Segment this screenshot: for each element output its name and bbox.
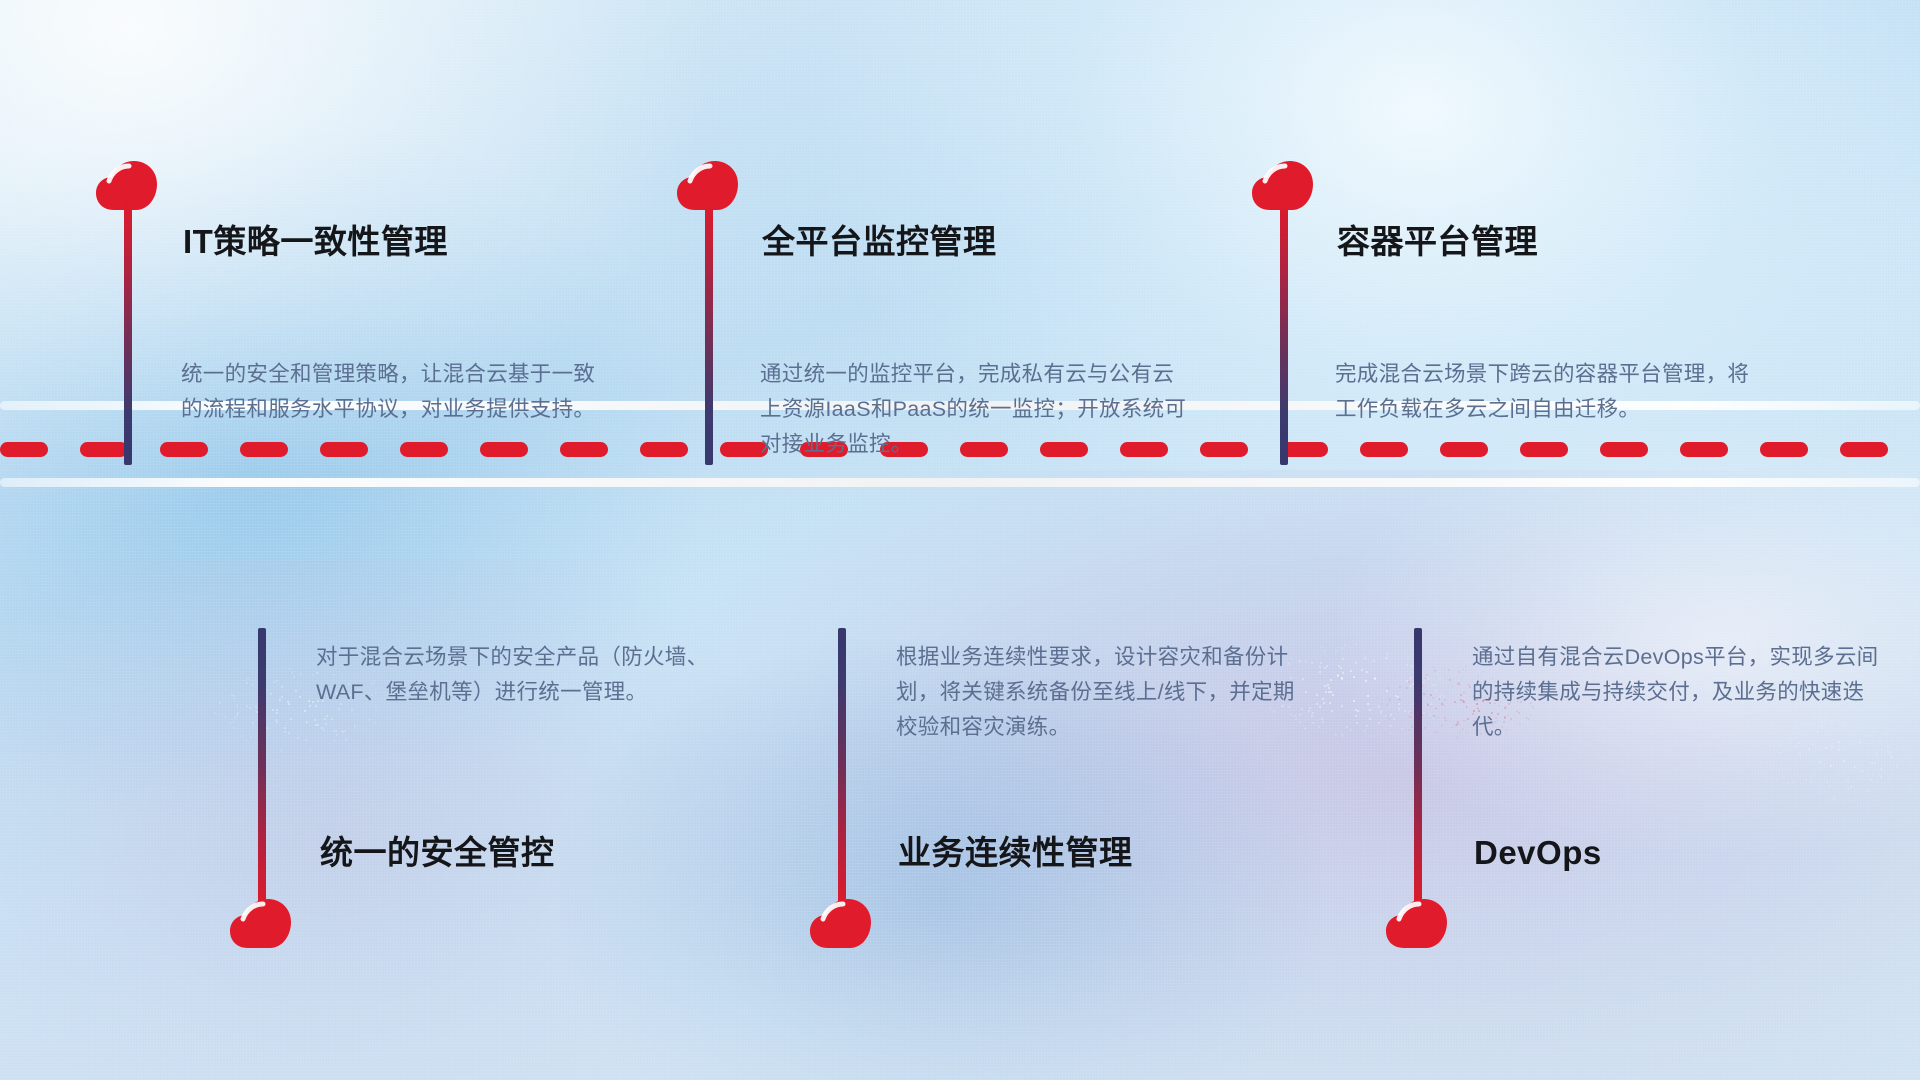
cloud-pin-icon[interactable] bbox=[1385, 898, 1451, 950]
item-title: 统一的安全管控 bbox=[320, 836, 555, 869]
timeline-stem bbox=[1280, 200, 1288, 465]
item-title: 容器平台管理 bbox=[1337, 225, 1538, 258]
item-title: 全平台监控管理 bbox=[762, 225, 997, 258]
item-description: 统一的安全和管理策略，让混合云基于一致的流程和服务水平协议，对业务提供支持。 bbox=[181, 357, 606, 427]
item-title: DevOps bbox=[1474, 836, 1602, 869]
item-title: 业务连续性管理 bbox=[898, 836, 1133, 869]
cloud-pin-icon[interactable] bbox=[229, 898, 295, 950]
timeline-stem bbox=[258, 628, 266, 910]
timeline-stem bbox=[705, 200, 713, 465]
item-description: 通过自有混合云DevOps平台，实现多云间的持续集成与持续交付，及业务的快速迭代… bbox=[1472, 640, 1892, 744]
item-title: IT策略一致性管理 bbox=[183, 225, 448, 258]
timeline-stem bbox=[124, 200, 132, 465]
timeline-stem bbox=[1414, 628, 1422, 910]
infographic-canvas: IT策略一致性管理 统一的安全和管理策略，让混合云基于一致的流程和服务水平协议，… bbox=[0, 0, 1920, 1080]
item-description: 通过统一的监控平台，完成私有云与公有云上资源IaaS和PaaS的统一监控；开放系… bbox=[760, 357, 1192, 461]
timeline-stem bbox=[838, 628, 846, 910]
item-description: 对于混合云场景下的安全产品（防火墙、WAF、堡垒机等）进行统一管理。 bbox=[316, 640, 736, 710]
item-description: 完成混合云场景下跨云的容器平台管理，将工作负载在多云之间自由迁移。 bbox=[1335, 357, 1765, 427]
cloud-pin-icon[interactable] bbox=[809, 898, 875, 950]
item-description: 根据业务连续性要求，设计容灾和备份计划，将关键系统备份至线上/线下，并定期校验和… bbox=[896, 640, 1316, 744]
road-rail-bottom bbox=[0, 478, 1920, 487]
